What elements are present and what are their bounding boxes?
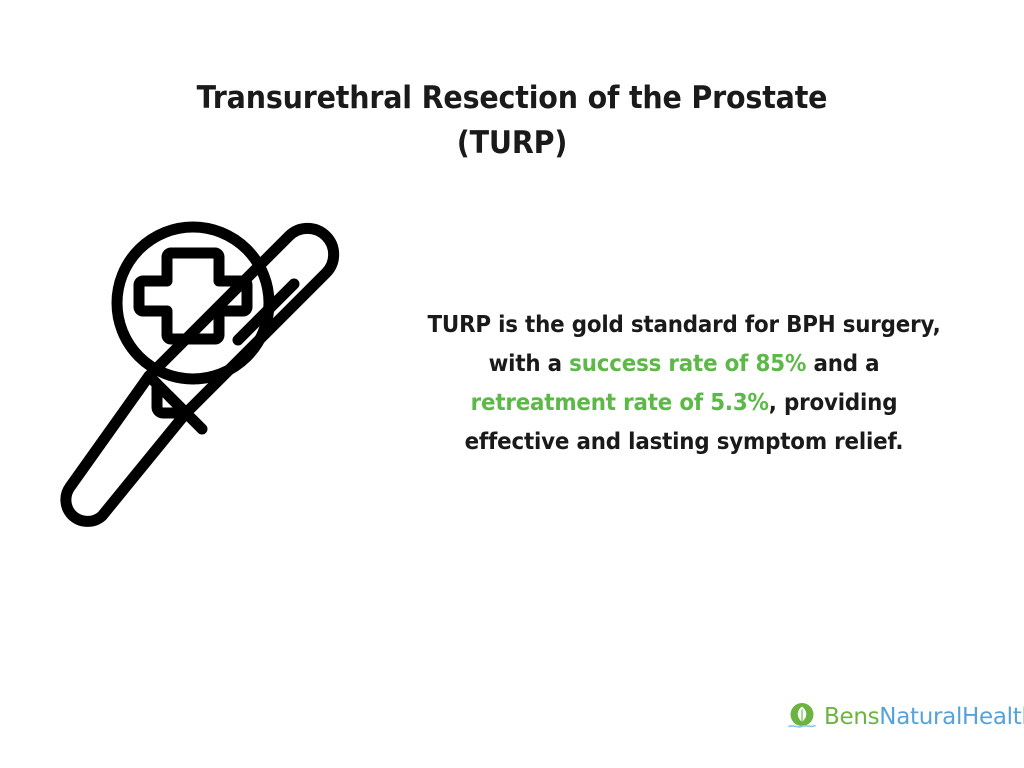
body-segment: and a [806,351,879,377]
body-line-2: with a success rate of 85% and a [398,345,971,384]
logo-wordmark: BensNaturalHealth [824,702,1024,732]
body-text: TURP is the gold standard for BPH surger… [376,306,992,462]
body-line-4: effective and lasting symptom relief. [398,423,971,462]
logo-text-naturalhealth: NaturalHealth [879,704,1024,730]
logo-text-bens: Bens [824,704,879,730]
leaf-in-circle-logo-icon [787,701,817,733]
body-segment: effective and lasting symptom relief. [465,429,904,455]
body-line-3: retreatment rate of 5.3%, providing [398,384,971,423]
page-title: Transurethral Resection of the Prostate … [0,76,1024,166]
title-line-1: Transurethral Resection of the Prostate [41,76,983,121]
scalpel-with-medical-cross-icon [58,214,348,550]
title-line-2: (TURP) [41,121,983,166]
success-rate-highlight: success rate of 85% [569,351,806,377]
body-line-1: TURP is the gold standard for BPH surger… [398,306,971,345]
body-segment: TURP is the gold standard for BPH surger… [427,312,940,338]
infographic-slide: Transurethral Resection of the Prostate … [0,0,1024,768]
bens-natural-health-logo[interactable]: BensNaturalHealth [787,700,1024,734]
body-segment: with a [489,351,570,377]
body-segment: , providing [769,390,898,416]
retreatment-rate-highlight: retreatment rate of 5.3% [471,390,769,416]
